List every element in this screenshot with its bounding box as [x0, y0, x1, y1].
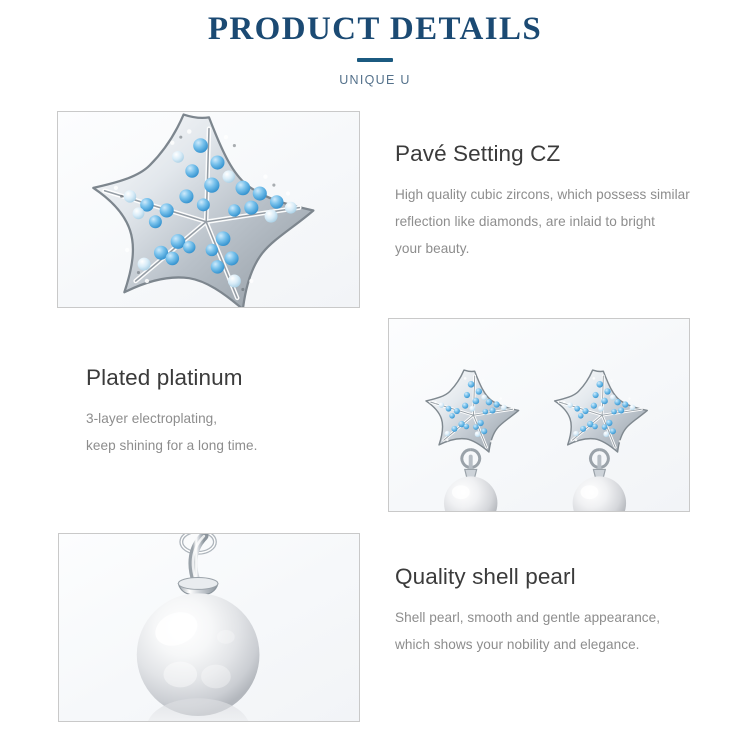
brand-subtitle: UNIQUE U — [0, 73, 750, 88]
starfish-earrings-pair-photo — [388, 318, 690, 512]
product-details-page: PRODUCT DETAILS UNIQUE U — [0, 0, 750, 750]
pendant-bail — [178, 534, 218, 595]
shell-pearl-closeup-photo — [58, 533, 360, 722]
body-line: High quality cubic zircons, which posses… — [395, 181, 740, 208]
title-divider — [357, 58, 393, 62]
section-body: High quality cubic zircons, which posses… — [395, 181, 740, 262]
body-line: your beauty. — [395, 235, 740, 262]
starfish-earrings-illustration — [389, 319, 689, 511]
shell-pearl-illustration — [59, 534, 359, 721]
starfish-pendant-closeup-photo — [57, 111, 360, 308]
starfish-pendant-illustration — [58, 112, 359, 307]
section-heading: Pavé Setting CZ — [395, 140, 740, 167]
left-earring-drop — [444, 450, 497, 511]
body-line: 3-layer electroplating, — [86, 405, 386, 432]
section-heading: Plated platinum — [86, 364, 386, 391]
section-body: 3-layer electroplating, keep shining for… — [86, 405, 386, 459]
section-text-plated-platinum: Plated platinum 3-layer electroplating, … — [86, 364, 386, 459]
section-heading: Quality shell pearl — [395, 563, 725, 590]
page-title: PRODUCT DETAILS — [0, 0, 750, 48]
page-header: PRODUCT DETAILS UNIQUE U — [0, 0, 750, 88]
right-earring-drop — [573, 450, 626, 511]
body-line: Shell pearl, smooth and gentle appearanc… — [395, 604, 725, 631]
body-line: which shows your nobility and elegance. — [395, 631, 725, 658]
body-line: keep shining for a long time. — [86, 432, 386, 459]
body-line: reflection like diamonds, are inlaid to … — [395, 208, 740, 235]
section-text-pave-setting-cz: Pavé Setting CZ High quality cubic zirco… — [395, 140, 740, 262]
pearl-sphere — [137, 593, 260, 716]
section-text-quality-shell-pearl: Quality shell pearl Shell pearl, smooth … — [395, 563, 725, 658]
section-body: Shell pearl, smooth and gentle appearanc… — [395, 604, 725, 658]
